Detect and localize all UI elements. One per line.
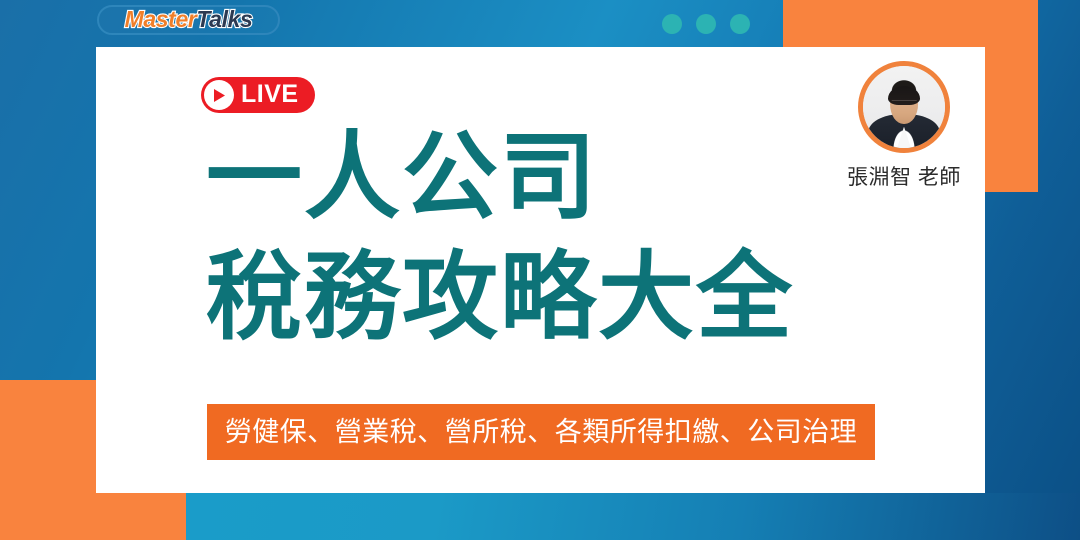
subtitle-text: 勞健保、營業稅、營所稅、各類所得扣繳、公司治理: [225, 419, 858, 446]
headline-line-2: 稅務攻略大全: [206, 249, 886, 345]
brand-logo[interactable]: MasterTalks: [97, 5, 280, 35]
decor-dot-1: [662, 14, 682, 34]
decor-dots: [662, 14, 750, 34]
subtitle-bar: 勞健保、營業稅、營所稅、各類所得扣繳、公司治理: [207, 404, 875, 460]
decor-dot-2: [696, 14, 716, 34]
content-card: LIVE 一人公司 稅務攻略大全 勞健保、營業稅、營所稅、各類所得扣繳、公司治理: [96, 47, 985, 493]
brand-logo-talks: Talks: [196, 6, 252, 32]
instructor-portrait-icon: [863, 66, 945, 148]
play-icon: [204, 80, 234, 110]
avatar: [858, 61, 950, 153]
decor-dot-3: [730, 14, 750, 34]
brand-logo-text: MasterTalks: [125, 8, 253, 31]
headline: 一人公司 稅務攻略大全: [206, 129, 886, 345]
decor-strip-blue-bottom: [186, 493, 1080, 540]
promo-banner: MasterTalks LIVE 一人公司 稅務攻略大全 勞健保、營業稅、營所稅…: [0, 0, 1080, 540]
live-badge-label: LIVE: [241, 82, 299, 107]
headline-line-1: 一人公司: [206, 129, 886, 225]
portrait-glasses: [892, 100, 917, 106]
brand-logo-master: Master: [125, 6, 197, 32]
live-badge: LIVE: [201, 77, 315, 113]
instructor-block: 張淵智 老師: [830, 61, 978, 188]
instructor-name: 張淵智 老師: [847, 167, 961, 188]
